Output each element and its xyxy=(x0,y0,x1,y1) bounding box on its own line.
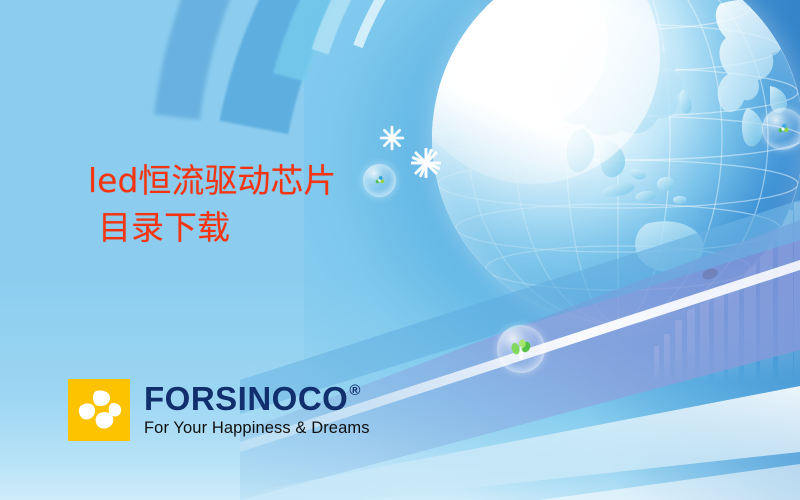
wordmark: FORSINOCO ® xyxy=(144,382,370,415)
logo-text-block: FORSINOCO ® For Your Happiness & Dreams xyxy=(144,382,370,438)
headline-line-2: 目录下载 xyxy=(98,209,336,247)
forsinoco-pinwheel-mark-icon xyxy=(68,379,130,441)
globe xyxy=(432,0,800,324)
globe-continents-and-grid-icon xyxy=(432,0,800,324)
green-sprout-icon xyxy=(508,336,535,363)
wordmark-text: FORSINOCO xyxy=(144,382,348,415)
brand-tagline: For Your Happiness & Dreams xyxy=(144,419,370,438)
bubble-edge-right xyxy=(762,108,800,150)
bubble-pinwheel-small xyxy=(363,164,396,197)
registered-trademark-symbol: ® xyxy=(349,383,361,398)
headline: led恒流驱动芯片 目录下载 xyxy=(88,162,336,248)
pinwheel-icon xyxy=(773,119,793,139)
promo-banner: led恒流驱动芯片 目录下载 FORSINOCO ® For Your Happ… xyxy=(0,0,800,500)
pinwheel-icon xyxy=(371,172,388,189)
brand-logo-lockup: FORSINOCO ® For Your Happiness & Dreams xyxy=(68,379,370,441)
globe-sphere xyxy=(432,0,800,324)
bubble-green-sprout xyxy=(497,325,545,373)
headline-line-1: led恒流驱动芯片 xyxy=(88,162,336,200)
